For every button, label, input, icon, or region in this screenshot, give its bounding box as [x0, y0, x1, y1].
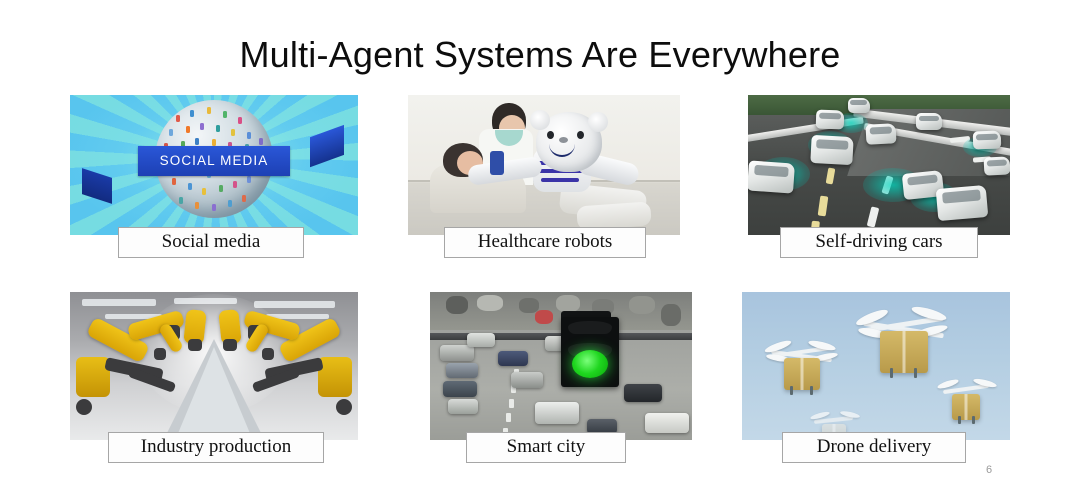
vehicle [440, 345, 474, 361]
caption-smart-city: Smart city [466, 432, 626, 463]
healthcare-robots-image [408, 95, 680, 235]
drone-delivery-image [742, 292, 1010, 440]
page-number: 6 [986, 464, 992, 476]
caption-self-driving-cars: Self-driving cars [780, 227, 978, 258]
traffic-light-green [572, 350, 608, 378]
drone [860, 307, 948, 371]
self-driving-cars-image [748, 95, 1010, 235]
vehicle [446, 363, 478, 378]
caption-social-media: Social media [118, 227, 304, 258]
smart-city-image [430, 292, 692, 440]
vehicle [443, 381, 477, 397]
caption-drone-delivery: Drone delivery [782, 432, 966, 463]
panel-drone-delivery[interactable]: Drone delivery [742, 292, 1010, 440]
vehicle [816, 110, 845, 130]
vehicle [511, 372, 543, 388]
vehicle [535, 402, 579, 424]
vehicle [498, 351, 528, 366]
vehicle [865, 124, 896, 146]
vehicle [973, 131, 1002, 150]
vehicle [448, 399, 478, 414]
drone [940, 378, 992, 420]
vehicle [983, 156, 1010, 175]
vehicle [645, 413, 689, 433]
vehicle [624, 384, 662, 402]
panel-industry-production[interactable]: Industry production [70, 292, 358, 440]
industry-production-image [70, 292, 358, 440]
panel-social-media[interactable]: SOCIAL MEDIA Social media [70, 95, 358, 235]
social-media-image: SOCIAL MEDIA [70, 95, 358, 235]
panel-self-driving-cars[interactable]: Self-driving cars [748, 95, 1010, 235]
panel-smart-city[interactable]: Smart city [430, 292, 692, 440]
vehicle [935, 185, 988, 221]
vehicle [848, 98, 870, 113]
drone [769, 339, 835, 389]
page-title: Multi-Agent Systems Are Everywhere [0, 34, 1080, 76]
social-media-banner: SOCIAL MEDIA [138, 146, 290, 176]
vehicle [748, 161, 795, 194]
panel-healthcare-robots[interactable]: Healthcare robots [408, 95, 680, 235]
robot-arm-base [318, 357, 352, 397]
vehicle [810, 135, 853, 165]
traffic-light [561, 317, 619, 387]
vehicle [916, 113, 942, 130]
vehicle [467, 333, 495, 347]
caption-industry-production: Industry production [108, 432, 324, 463]
caption-healthcare-robots: Healthcare robots [444, 227, 646, 258]
